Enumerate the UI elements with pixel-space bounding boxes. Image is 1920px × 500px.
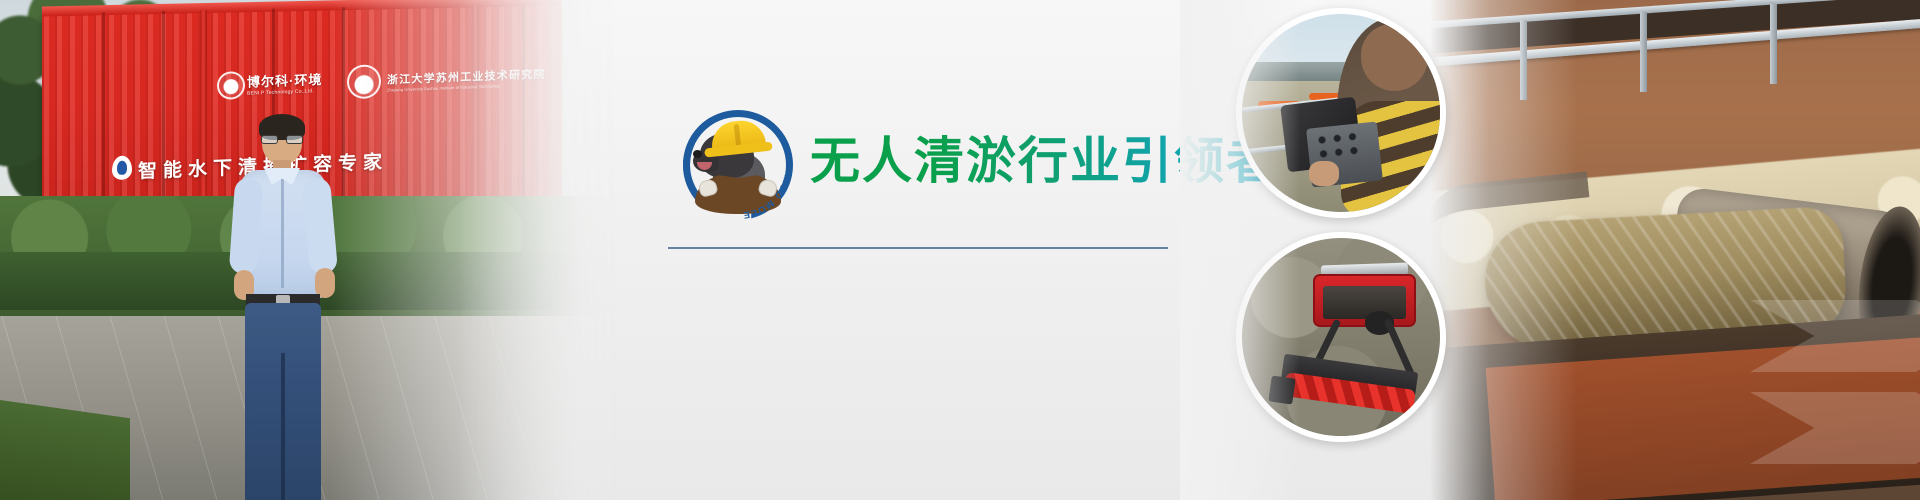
grass-strip (0, 400, 130, 500)
center-branding-block: MUD MOLE 无人清淤行业引领者 (660, 0, 1220, 500)
sludge-discharge-pipe-photo (1430, 0, 1920, 500)
slogan-divider (668, 247, 1168, 249)
right-photo-collage (1180, 0, 1920, 500)
hero-banner: 博尔科·环境 BENI.P Technology Co.,Ltd. 浙江大学苏州… (0, 0, 1920, 500)
container-logo-mark-primary (217, 71, 245, 100)
rail-post (1640, 12, 1647, 92)
rail-post (1520, 20, 1527, 100)
control-buttons (1314, 128, 1368, 161)
operator-hand (1309, 161, 1339, 187)
person-trousers (245, 303, 321, 500)
left-photo-engineer-container: 博尔科·环境 BENI.P Technology Co.,Ltd. 浙江大学苏州… (0, 0, 620, 500)
right-photo-fade-overlay (1180, 0, 1300, 500)
left-photo-fade-overlay (330, 0, 620, 500)
logo-arc-text: MUD MOLE (683, 110, 793, 220)
person-glasses (261, 135, 303, 144)
mud-mole-logo: MUD MOLE (683, 110, 793, 220)
operator-head (1361, 24, 1428, 91)
container-slogan-badge-icon (112, 155, 132, 180)
engineer-person (228, 118, 336, 500)
rail-post (1770, 4, 1777, 84)
container-brand-primary: 博尔科·环境 BENI.P Technology Co.,Ltd. (247, 69, 322, 97)
container-brand-primary-text: 博尔科·环境 (247, 72, 322, 90)
svg-text:MUD MOLE: MUD MOLE (741, 174, 792, 220)
robot-equipment-bay (1323, 286, 1406, 320)
